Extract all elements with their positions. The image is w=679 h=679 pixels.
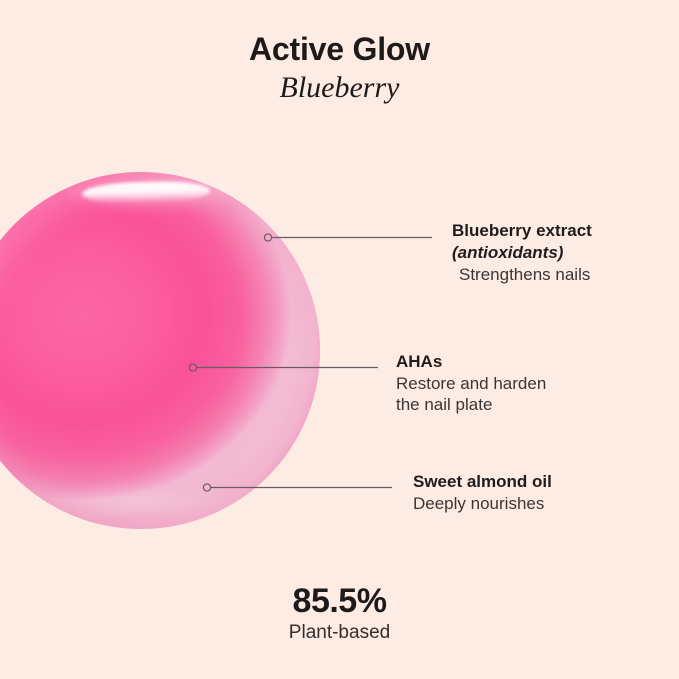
callout-description: Strengthens nails bbox=[452, 264, 592, 285]
callout-description-line-1: Restore and harden bbox=[396, 373, 546, 394]
callout-title-note: (antioxidants) bbox=[452, 242, 592, 264]
droplet-bottom-sheen bbox=[50, 487, 222, 517]
callout-description: Deeply nourishes bbox=[413, 493, 552, 514]
callout-description-line-2: the nail plate bbox=[396, 394, 546, 415]
heading-block: Active Glow Blueberry bbox=[0, 33, 679, 106]
callout-title: AHAs bbox=[396, 351, 546, 373]
callout-ahas: AHAs Restore and harden the nail plate bbox=[396, 351, 546, 416]
droplet-edge-shadow bbox=[0, 172, 320, 529]
callout-title: Sweet almond oil bbox=[413, 471, 552, 493]
product-variant-name: Blueberry bbox=[0, 69, 679, 107]
callout-title: Blueberry extract bbox=[452, 220, 592, 242]
page-title: Active Glow bbox=[0, 33, 679, 67]
stat-value: 85.5% bbox=[0, 583, 679, 620]
stat-label: Plant-based bbox=[0, 621, 679, 646]
callout-sweet-almond-oil: Sweet almond oil Deeply nourishes bbox=[413, 471, 552, 514]
serum-droplet-illustration bbox=[0, 172, 320, 529]
plant-based-stat: 85.5% Plant-based bbox=[0, 583, 679, 646]
product-infographic: Active Glow Blueberry Blueberry extract … bbox=[0, 0, 679, 679]
callout-blueberry-extract: Blueberry extract (antioxidants) Strengt… bbox=[452, 220, 592, 285]
